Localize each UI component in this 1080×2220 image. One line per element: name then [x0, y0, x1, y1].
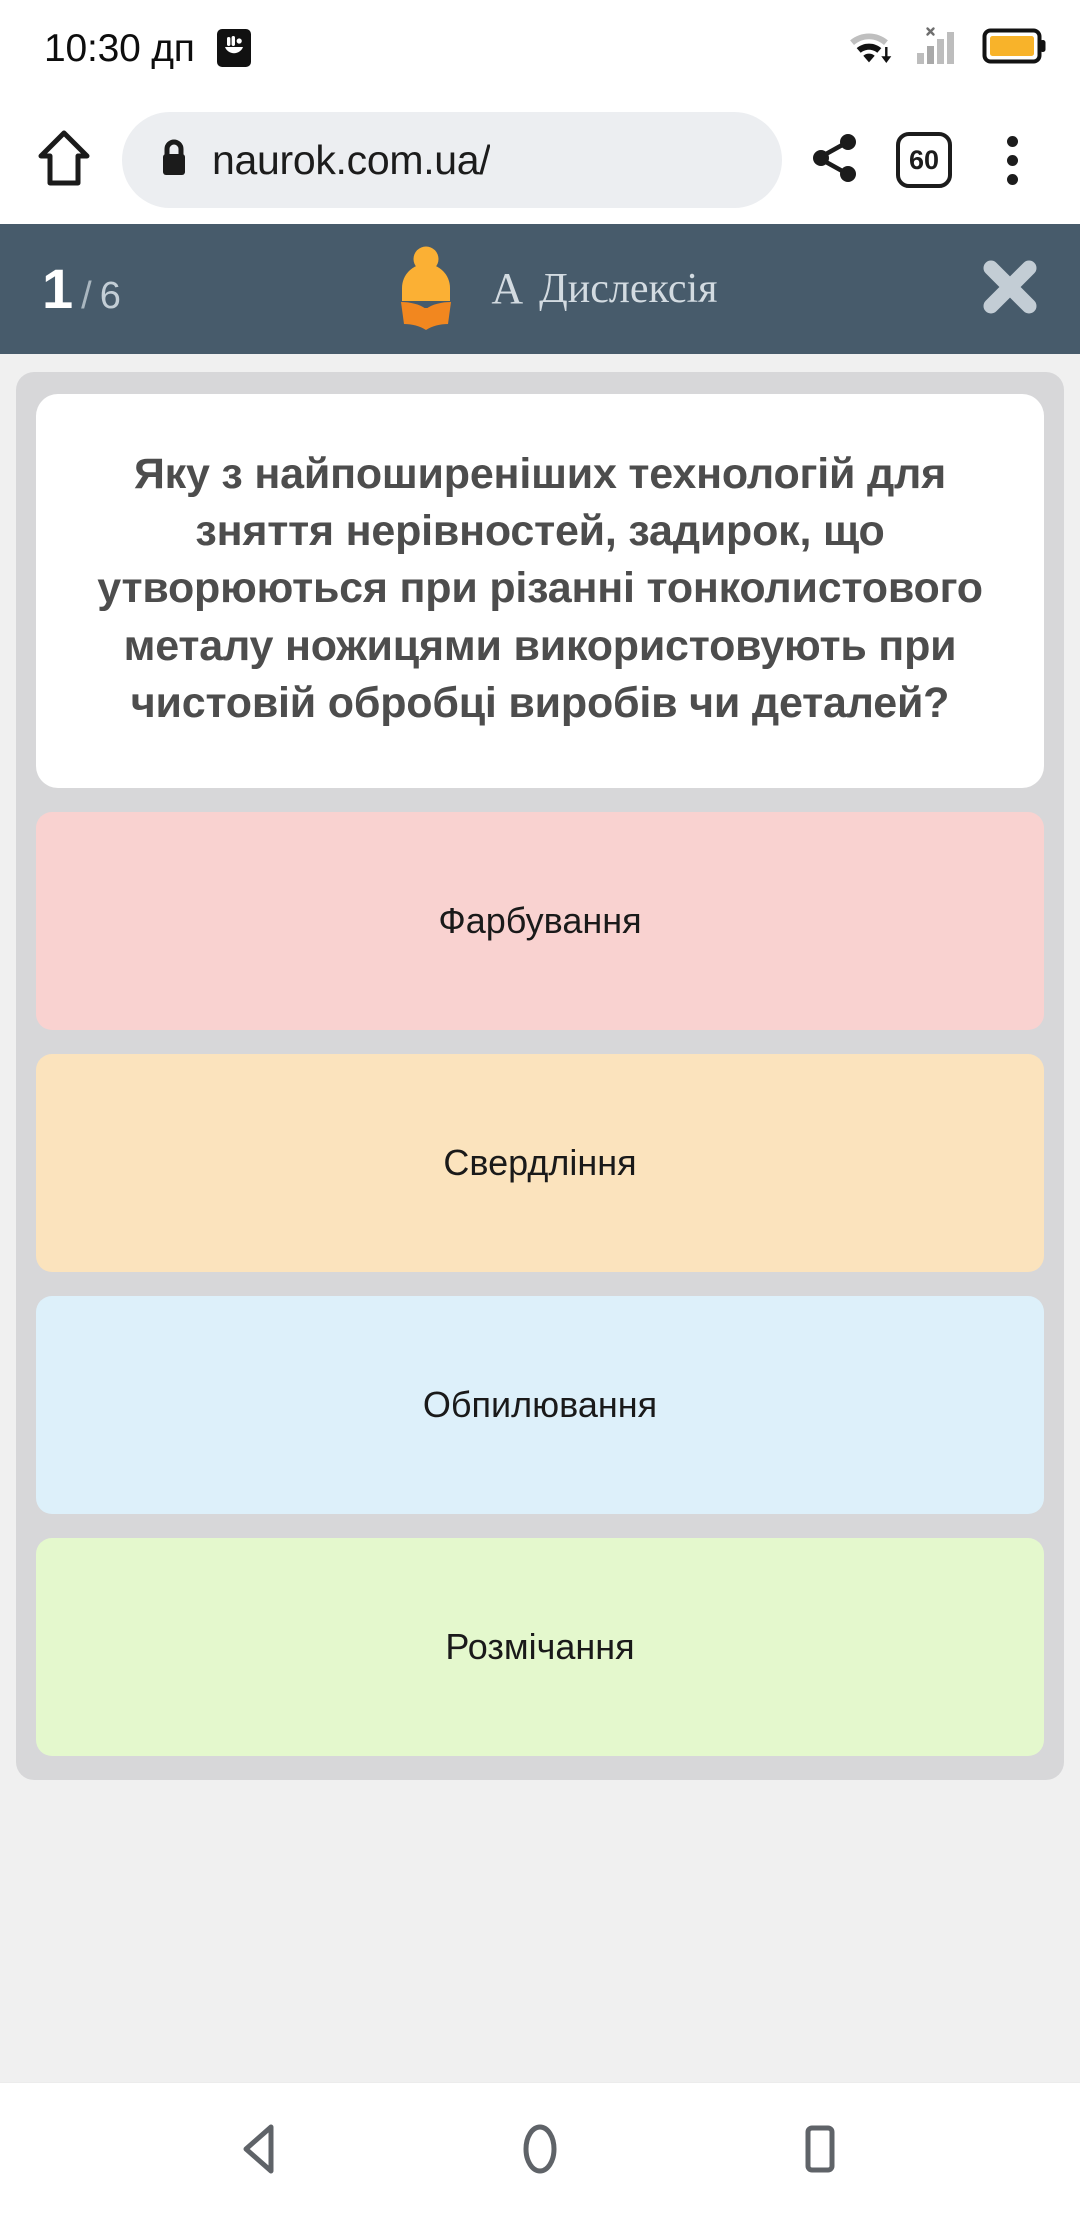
- home-circle-icon: [513, 2120, 567, 2183]
- kebab-menu-icon: [1007, 136, 1018, 185]
- status-clock: 10:30 дп: [44, 29, 195, 68]
- android-navigation-bar: [0, 2082, 1080, 2220]
- status-bar-left: 10:30 дп: [44, 29, 251, 68]
- dyslexia-font-a-icon: А: [491, 267, 523, 311]
- quiz-header: 1 / 6 А Дислексія: [0, 224, 1080, 354]
- current-question-number: 1: [42, 261, 73, 317]
- lock-icon: [158, 137, 190, 184]
- answer-option-label: Фарбування: [438, 898, 641, 943]
- answer-option-label: Розмічання: [445, 1624, 634, 1669]
- dyslexia-mode-toggle[interactable]: А Дислексія: [491, 267, 717, 311]
- url-bar[interactable]: naurok.com.ua/: [122, 112, 782, 208]
- quiz-page-body: Яку з найпоширеніших технологій для знят…: [0, 354, 1080, 2082]
- answer-option-label: Свердління: [443, 1140, 636, 1185]
- answer-option-label: Обпилювання: [423, 1382, 657, 1427]
- status-bar-right: [844, 25, 1046, 72]
- url-text: naurok.com.ua/: [212, 137, 490, 184]
- battery-charged-icon: [980, 27, 1046, 70]
- nav-home-button[interactable]: [485, 2097, 595, 2207]
- answer-option-2[interactable]: Свердління: [36, 1054, 1044, 1272]
- home-icon: [38, 130, 90, 191]
- browser-toolbar: naurok.com.ua/ 60: [0, 96, 1080, 224]
- close-quiz-button[interactable]: [974, 253, 1046, 325]
- recents-square-icon: [793, 2120, 847, 2183]
- question-text: Яку з найпоширеніших технологій для знят…: [80, 446, 1000, 732]
- share-icon: [811, 132, 861, 189]
- share-button[interactable]: [794, 118, 878, 202]
- quiz-header-center: А Дислексія: [131, 244, 974, 335]
- nav-back-button[interactable]: [205, 2097, 315, 2207]
- dyslexia-label: Дислексія: [539, 268, 717, 310]
- answer-option-1[interactable]: Фарбування: [36, 812, 1044, 1030]
- hand-smiley-notification-icon: [217, 29, 251, 67]
- back-triangle-icon: [233, 2120, 287, 2183]
- close-x-icon: [979, 256, 1041, 323]
- phone-screen: 10:30 дп: [0, 0, 1080, 2220]
- wifi-download-icon: [844, 25, 896, 72]
- browser-menu-button[interactable]: [970, 118, 1054, 202]
- total-question-count: 6: [100, 277, 121, 315]
- tab-count-badge: 60: [896, 132, 952, 188]
- nav-recents-button[interactable]: [765, 2097, 875, 2207]
- home-button[interactable]: [22, 118, 106, 202]
- question-progress-counter: 1 / 6: [42, 261, 121, 317]
- cellular-signal-no-service-icon: [916, 25, 960, 72]
- answer-option-4[interactable]: Розмічання: [36, 1538, 1044, 1756]
- question-card: Яку з найпоширеніших технологій для знят…: [36, 394, 1044, 788]
- progress-separator: /: [81, 277, 92, 315]
- naurok-reader-book-logo: [387, 244, 465, 335]
- quiz-content-panel: Яку з найпоширеніших технологій для знят…: [16, 372, 1064, 1780]
- status-bar: 10:30 дп: [0, 0, 1080, 96]
- tab-switcher-button[interactable]: 60: [882, 118, 966, 202]
- answer-option-3[interactable]: Обпилювання: [36, 1296, 1044, 1514]
